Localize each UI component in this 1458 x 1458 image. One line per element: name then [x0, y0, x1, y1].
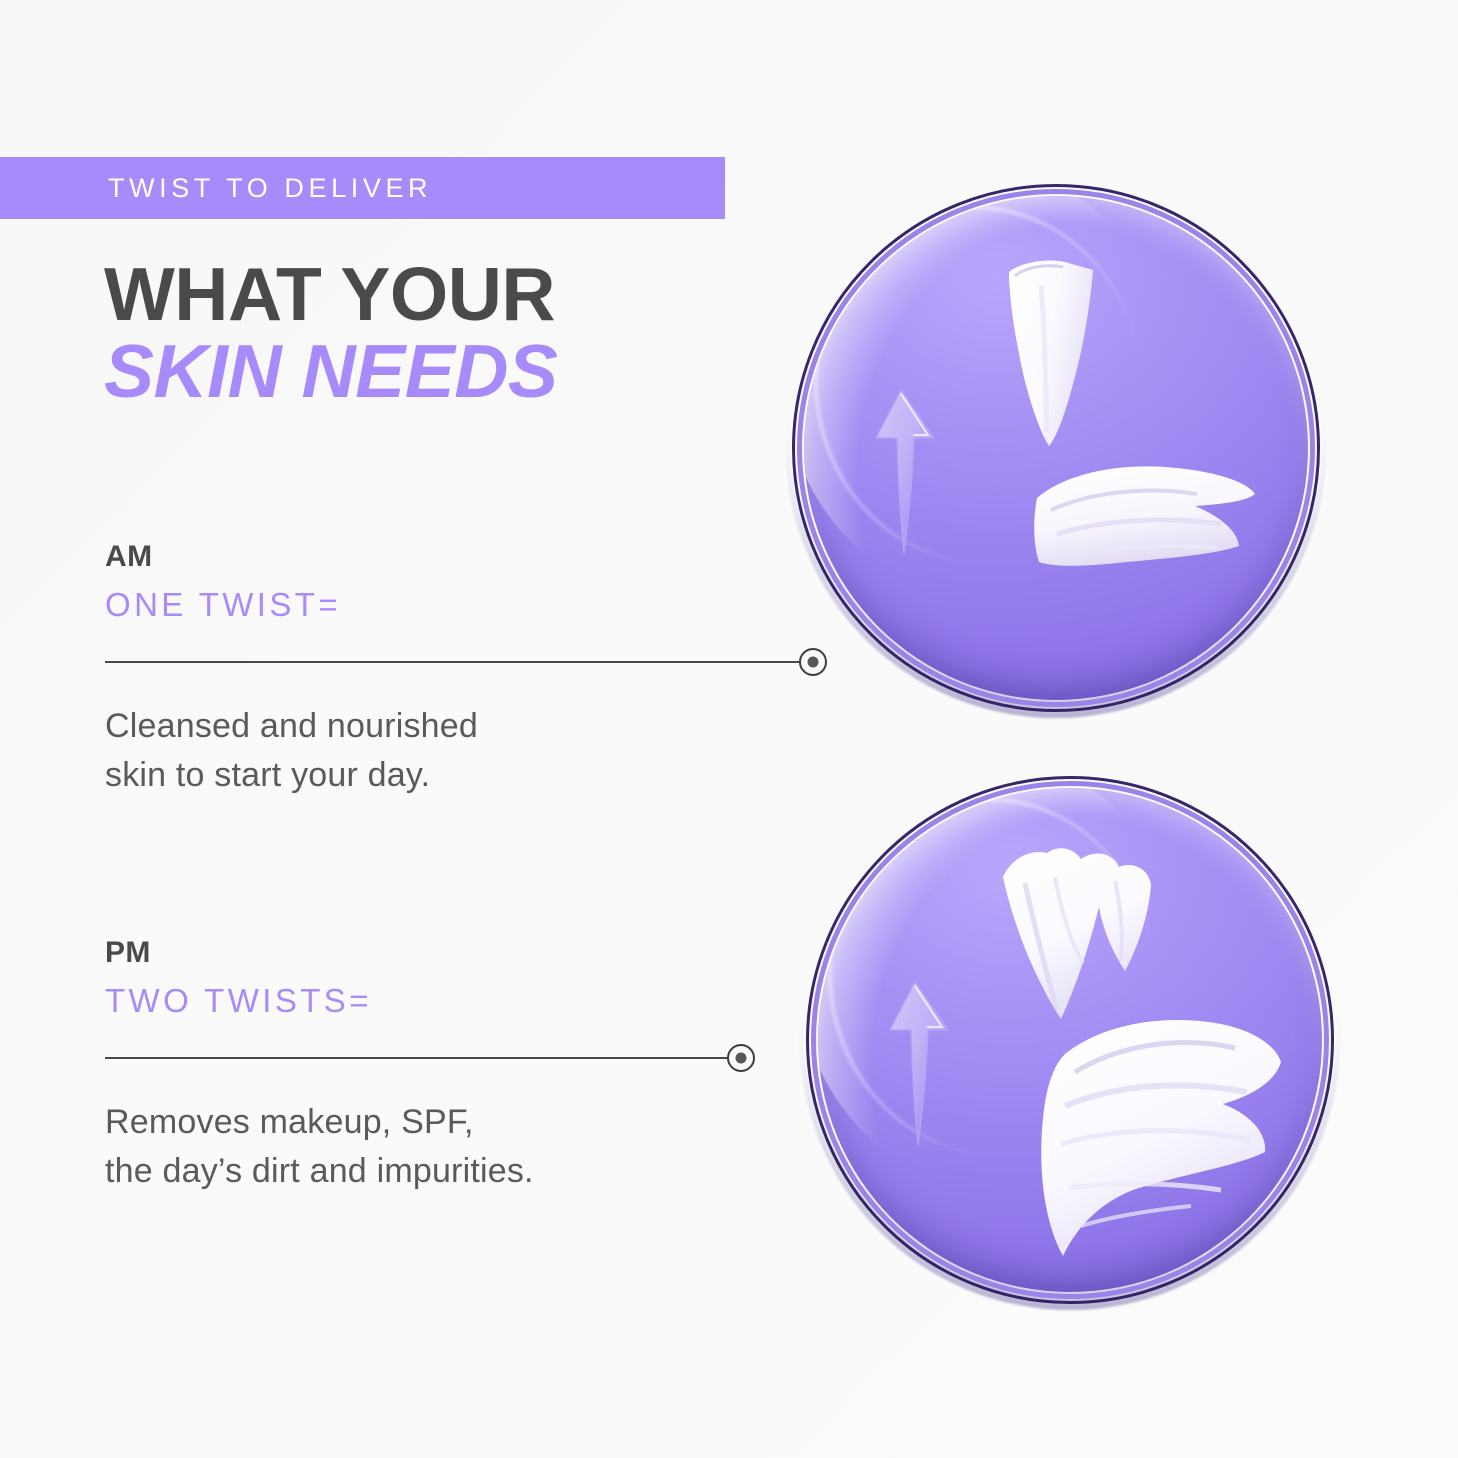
- routine-twists-pm: TWO TWISTS=: [105, 982, 865, 1020]
- cream-dollop-am-1: [1001, 256, 1099, 448]
- routine-block-pm: PM TWO TWISTS= Removes makeup, SPF, the …: [105, 936, 865, 1197]
- routine-twists-am: ONE TWIST=: [105, 586, 865, 624]
- headline-line-1: WHAT YOUR: [104, 258, 724, 331]
- jar-pm-alt-text: Purple jar lid, top view, with embossed …: [0, 0, 1, 1]
- cream-dollop-pm-1: [999, 843, 1169, 1029]
- connector-am: [105, 648, 865, 676]
- infographic-canvas: TWIST TO DELIVER WHAT YOUR SKIN NEEDS AM…: [0, 0, 1458, 1458]
- routine-block-am: AM ONE TWIST= Cleansed and nourished ski…: [105, 540, 865, 801]
- connector-line-pm: [105, 1057, 731, 1059]
- up-arrow-icon-am: [864, 388, 938, 556]
- routine-description-am-line-1: Cleansed and nourished: [105, 707, 478, 745]
- up-arrow-icon-pm: [878, 980, 952, 1148]
- connector-dot-icon-am: [799, 648, 827, 676]
- eyebrow-label: TWIST TO DELIVER: [108, 173, 432, 204]
- product-jar-pm: [800, 770, 1340, 1310]
- connector-dot-icon-pm: [727, 1044, 755, 1072]
- page-title: WHAT YOUR SKIN NEEDS: [104, 258, 724, 408]
- jar-lid-face-pm: [818, 788, 1322, 1292]
- routine-period-pm: PM: [105, 936, 865, 970]
- eyebrow-banner: TWIST TO DELIVER: [0, 157, 725, 219]
- connector-line-am: [105, 661, 803, 663]
- jar-gloss-arc-am: [804, 196, 1158, 578]
- connector-pm: [105, 1044, 865, 1072]
- routine-description-pm-line-2: the day’s dirt and impurities.: [105, 1152, 534, 1190]
- jar-lid-face-am: [804, 196, 1308, 700]
- product-jar-am: [786, 178, 1326, 718]
- routine-description-am: Cleansed and nourished skin to start you…: [105, 702, 865, 801]
- jar-gloss-arc-pm: [818, 788, 1172, 1170]
- routine-description-pm-line-1: Removes makeup, SPF,: [105, 1103, 474, 1141]
- routine-period-am: AM: [105, 540, 865, 574]
- jar-am-alt-text: Purple jar lid, top view, with embossed …: [0, 0, 1, 1]
- headline-line-2: SKIN NEEDS: [104, 335, 724, 408]
- cream-dollop-am-2: [1031, 458, 1259, 600]
- routine-description-am-line-2: skin to start your day.: [105, 756, 430, 794]
- routine-description-pm: Removes makeup, SPF, the day’s dirt and …: [105, 1098, 865, 1197]
